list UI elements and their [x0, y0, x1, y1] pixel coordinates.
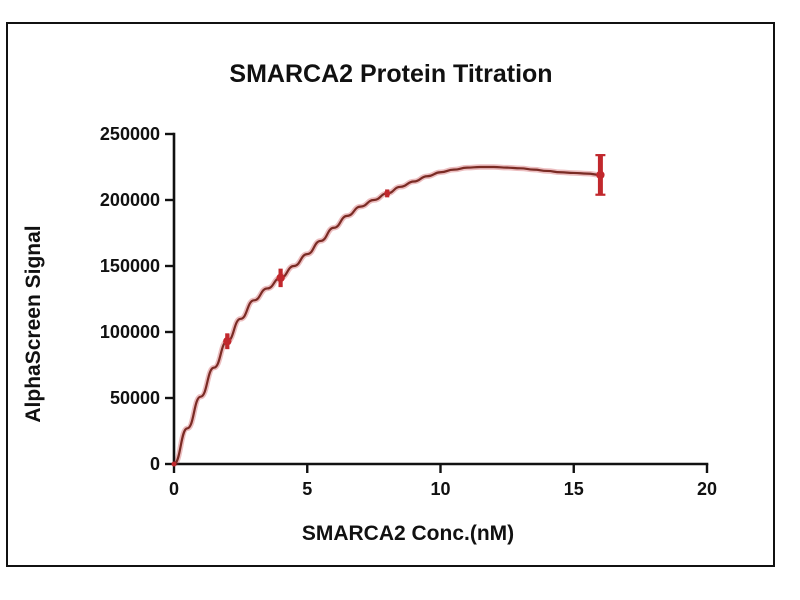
- y-tick-label: 150000: [100, 256, 160, 276]
- x-tick-label: 10: [430, 479, 450, 499]
- figure-panel: SMARCA2 Protein Titration AlphaScreen Si…: [6, 22, 775, 567]
- chart-title: SMARCA2 Protein Titration: [229, 60, 552, 88]
- chart-plot-area: SMARCA2 Protein Titration AlphaScreen Si…: [8, 24, 773, 565]
- data-point-marker: [172, 462, 177, 467]
- y-axis: 050000100000150000200000250000: [100, 124, 174, 474]
- y-tick-label: 100000: [100, 322, 160, 342]
- x-axis: 05101520: [169, 464, 717, 499]
- x-axis-label: SMARCA2 Conc.(nM): [302, 522, 514, 545]
- data-point-marker: [384, 190, 390, 196]
- data-point-marker: [276, 274, 284, 282]
- y-tick-label: 250000: [100, 124, 160, 144]
- data-points: [172, 155, 606, 466]
- fit-curve: [174, 167, 600, 464]
- x-tick-label: 15: [564, 479, 584, 499]
- x-tick-label: 20: [697, 479, 717, 499]
- data-point-marker: [596, 171, 604, 179]
- fit-curve-glow: [174, 167, 600, 464]
- y-axis-label: AlphaScreen Signal: [22, 225, 45, 422]
- data-point-marker: [223, 337, 231, 345]
- fit-curve-line: [174, 167, 600, 464]
- x-tick-label: 5: [302, 479, 312, 499]
- titration-chart: SMARCA2 Protein Titration AlphaScreen Si…: [8, 24, 773, 565]
- y-tick-label: 200000: [100, 190, 160, 210]
- y-tick-label: 0: [150, 454, 160, 474]
- y-tick-label: 50000: [110, 388, 160, 408]
- x-tick-label: 0: [169, 479, 179, 499]
